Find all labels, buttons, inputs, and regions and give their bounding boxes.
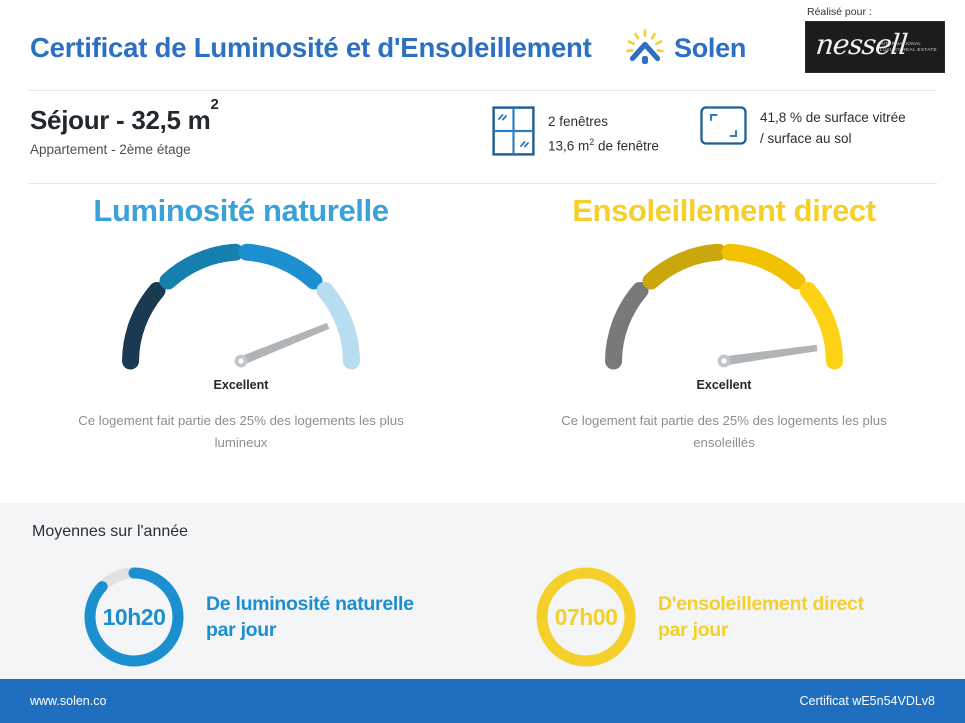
- gauge-segment-4: [325, 291, 352, 362]
- average-ensoleillement-label-line1: D'ensoleillement direct: [658, 593, 864, 615]
- partner-block: Réalisé pour : nessell INTERNATIONALLUXU…: [805, 6, 945, 73]
- room-title: Séjour - 32,5 m2: [30, 105, 219, 136]
- partner-logo: nessell INTERNATIONALLUXURY REAL ESTATE: [805, 21, 945, 73]
- gauge-luminosite-dial: [0, 237, 482, 372]
- page-footer: www.solen.co Certificat wE5n54VDLv8: [0, 679, 965, 723]
- partner-label: Réalisé pour :: [805, 6, 945, 18]
- glazing-metric-text: 41,8 % de surface vitrée / surface au so…: [760, 107, 906, 149]
- gauge-ensoleillement-heading: Ensoleillement direct: [483, 193, 965, 229]
- gauge-needle: [233, 320, 331, 369]
- gauge-luminosite: Luminosité naturelle Excell: [0, 184, 482, 454]
- gauge-segment-1: [131, 291, 158, 362]
- windows-count-text: 2 fenêtres: [548, 114, 608, 129]
- windows-metric: 2 fenêtres 13,6 m2 de fenêtre: [492, 106, 659, 161]
- average-luminosite-donut: 10h20: [80, 563, 188, 671]
- gauge-ensoleillement-description: Ce logement fait partie des 25% des loge…: [534, 410, 914, 454]
- gauge-segment-1: [614, 291, 641, 362]
- window-panes-icon: [492, 106, 535, 161]
- average-luminosite-value: 10h20: [80, 563, 188, 671]
- average-luminosite-label-line1: De luminosité naturelle: [206, 593, 414, 615]
- gauge-luminosite-heading: Luminosité naturelle: [0, 193, 482, 229]
- room-area-exponent: 2: [210, 96, 218, 113]
- averages-title: Moyennes sur l'année: [32, 523, 188, 541]
- gauge-luminosite-rating: Excellent: [0, 378, 482, 392]
- brand-logo-group: Solen: [625, 28, 746, 68]
- average-ensoleillement-value: 07h00: [532, 563, 640, 671]
- gauge-ensoleillement: Ensoleillement direct Excel: [483, 184, 965, 454]
- gauge-segment-2: [168, 252, 235, 281]
- footer-certificate-id: Certificat wE5n54VDLv8: [800, 694, 935, 708]
- room-title-text: Séjour - 32,5 m: [30, 105, 210, 135]
- partner-logo-subtitle: INTERNATIONALLUXURY REAL ESTATE: [880, 41, 937, 53]
- windows-area-prefix: 13,6 m: [548, 138, 589, 153]
- windows-area-suffix: de fenêtre: [594, 138, 659, 153]
- solen-sun-house-icon: [625, 28, 665, 68]
- brand-name: Solen: [674, 33, 746, 64]
- gauges-section: Luminosité naturelle Excell: [0, 184, 965, 503]
- windows-metric-text: 2 fenêtres 13,6 m2 de fenêtre: [548, 111, 659, 157]
- glazing-metric: 41,8 % de surface vitrée / surface au so…: [700, 106, 906, 150]
- average-luminosite-label: De luminosité naturelle par jour: [206, 591, 414, 643]
- average-ensoleillement-donut: 07h00: [532, 563, 640, 671]
- gauge-ensoleillement-dial: [483, 237, 965, 372]
- footer-website-link[interactable]: www.solen.co: [30, 694, 106, 708]
- floor-surface-icon: [700, 106, 747, 150]
- room-summary: Séjour - 32,5 m2 Appartement - 2ème étag…: [0, 91, 965, 184]
- averages-section: Moyennes sur l'année 10h20 De luminosité…: [0, 503, 965, 686]
- page-title: Certificat de Luminosité et d'Ensoleille…: [30, 32, 592, 64]
- gauge-ensoleillement-rating: Excellent: [483, 378, 965, 392]
- gauge-segment-2: [651, 252, 718, 281]
- average-ensoleillement-label: D'ensoleillement direct par jour: [658, 591, 864, 643]
- gauge-needle: [717, 342, 818, 369]
- glazing-ratio-text: 41,8 % de surface vitrée: [760, 110, 906, 125]
- glazing-ratio-sub: / surface au sol: [760, 131, 852, 146]
- certificate-page: Certificat de Luminosité et d'Ensoleille…: [0, 0, 965, 723]
- gauge-segment-3: [247, 252, 314, 281]
- average-ensoleillement-label-line2: par jour: [658, 619, 728, 641]
- room-subtitle: Appartement - 2ème étage: [30, 142, 191, 157]
- gauge-luminosite-description: Ce logement fait partie des 25% des loge…: [51, 410, 431, 454]
- average-luminosite-label-line2: par jour: [206, 619, 276, 641]
- page-header: Certificat de Luminosité et d'Ensoleille…: [0, 0, 965, 91]
- average-ensoleillement: 07h00 D'ensoleillement direct par jour: [532, 563, 864, 671]
- gauge-segment-3: [730, 252, 797, 281]
- average-luminosite: 10h20 De luminosité naturelle par jour: [80, 563, 414, 671]
